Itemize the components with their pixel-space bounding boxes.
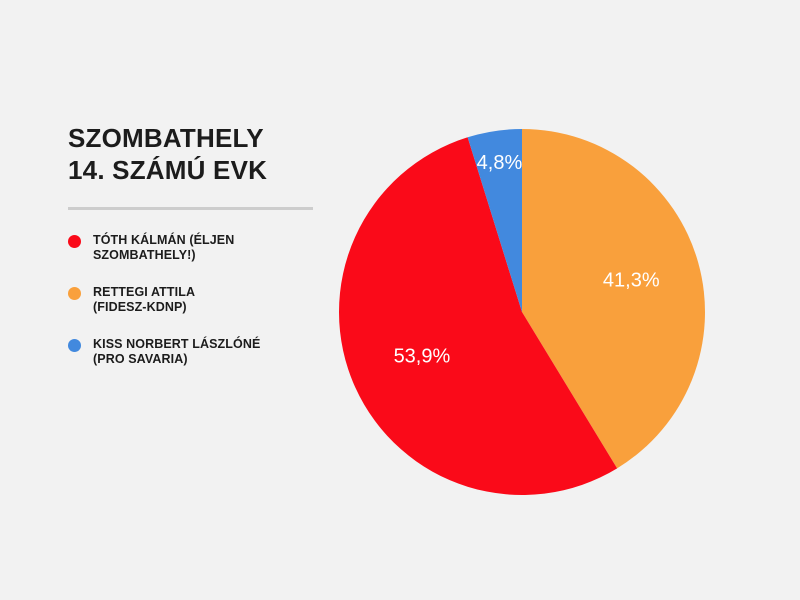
legend-item-rettegi-attila[interactable]: RETTEGI ATTILA (FIDESZ-KDNP) <box>68 285 338 315</box>
legend-item-kiss-norbert-laszlone[interactable]: KISS NORBERT LÁSZLÓNÉ (PRO SAVARIA) <box>68 337 338 367</box>
legend-label-kiss-norbert-laszlone: KISS NORBERT LÁSZLÓNÉ (PRO SAVARIA) <box>93 337 260 367</box>
pie-label-kiss-norbert-laszlone: 4,8% <box>477 152 523 174</box>
pie-label-rettegi-attila: 41,3% <box>603 270 660 292</box>
legend-label-toth-kalman: TÓTH KÁLMÁN (ÉLJEN SZOMBATHELY!) <box>93 233 234 263</box>
page-title: SZOMBATHELY 14. SZÁMÚ EVK <box>68 122 338 186</box>
legend-label-line-1: KISS NORBERT LÁSZLÓNÉ <box>93 337 260 351</box>
legend-label-line-1: TÓTH KÁLMÁN (ÉLJEN <box>93 233 234 247</box>
legend-label-rettegi-attila: RETTEGI ATTILA (FIDESZ-KDNP) <box>93 285 195 315</box>
legend-label-line-1: RETTEGI ATTILA <box>93 285 195 299</box>
page-title-line-1: SZOMBATHELY <box>68 122 338 154</box>
legend-label-line-2: (FIDESZ-KDNP) <box>93 300 195 315</box>
pie-chart: 41,3% 53,9% 4,8% <box>330 112 730 512</box>
chart-page: SZOMBATHELY 14. SZÁMÚ EVK TÓTH KÁLMÁN (É… <box>0 0 800 600</box>
legend-swatch-blue <box>68 339 81 352</box>
legend-item-toth-kalman[interactable]: TÓTH KÁLMÁN (ÉLJEN SZOMBATHELY!) <box>68 233 338 263</box>
page-title-line-2: 14. SZÁMÚ EVK <box>68 154 338 186</box>
pie-chart-svg: 41,3% 53,9% 4,8% <box>330 112 730 512</box>
chart-legend: TÓTH KÁLMÁN (ÉLJEN SZOMBATHELY!) RETTEGI… <box>68 233 338 367</box>
legend-swatch-red <box>68 235 81 248</box>
title-divider <box>68 207 313 210</box>
pie-label-toth-kalman: 53,9% <box>394 345 451 367</box>
legend-label-line-2: SZOMBATHELY!) <box>93 248 234 263</box>
pie-slices <box>339 129 705 495</box>
legend-swatch-orange <box>68 287 81 300</box>
info-panel: SZOMBATHELY 14. SZÁMÚ EVK TÓTH KÁLMÁN (É… <box>68 122 338 367</box>
legend-label-line-2: (PRO SAVARIA) <box>93 352 260 367</box>
